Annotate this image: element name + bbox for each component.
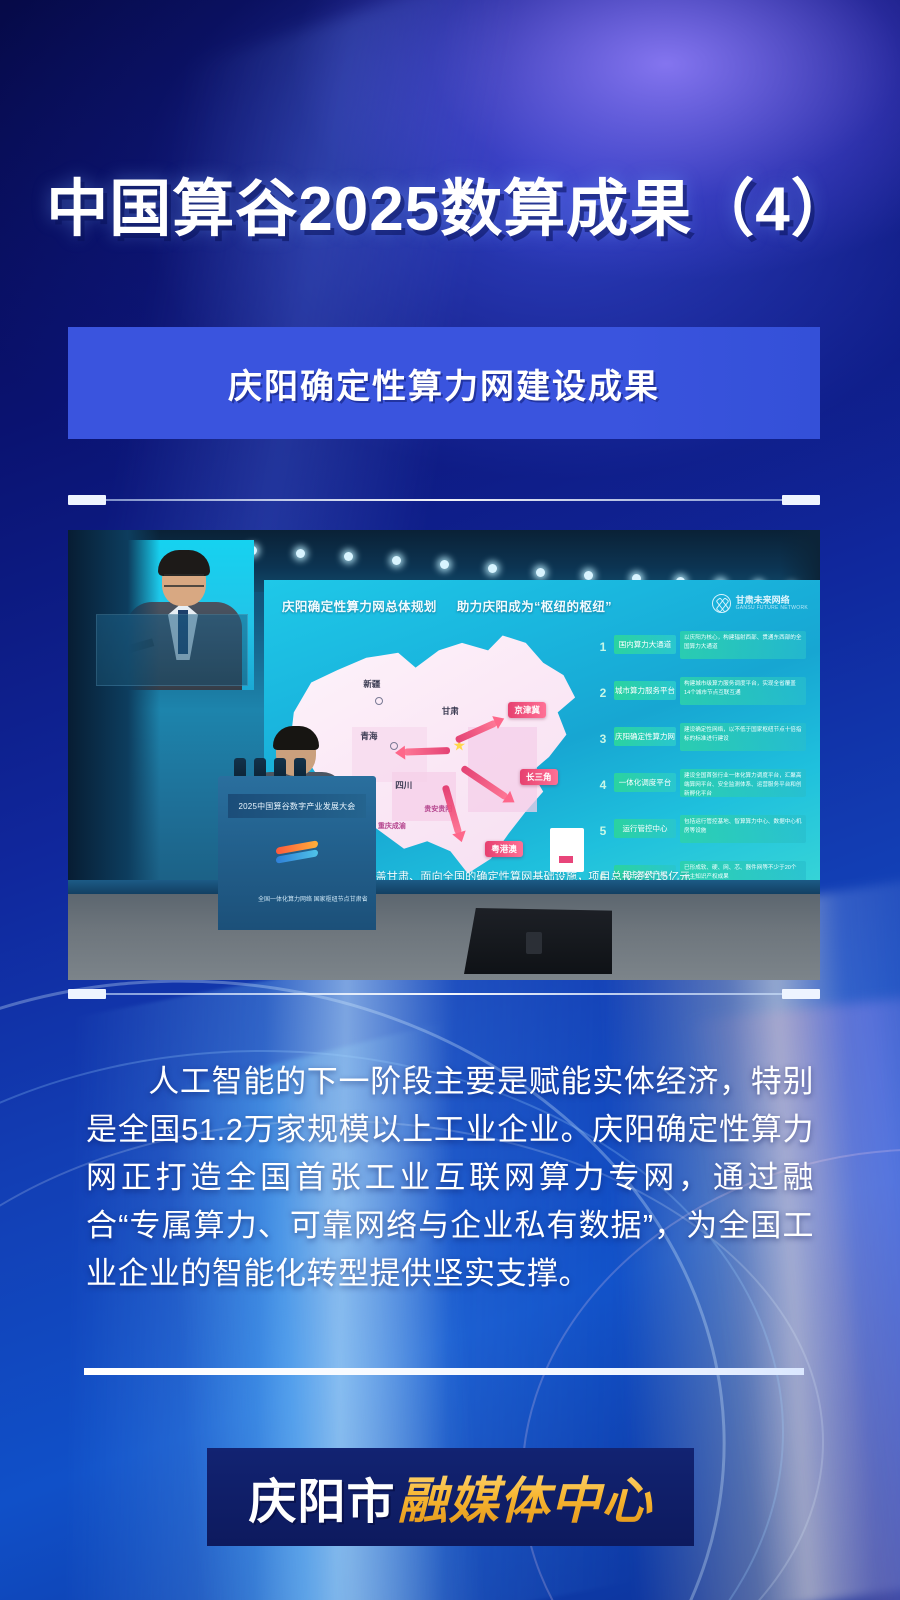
plan-item-desc: 构建城市级算力服务调度平台，实现全省覆盖14个城市节点互联互通 <box>680 677 806 705</box>
plan-item-number: 5 <box>596 816 610 846</box>
poster-canvas: 中国算谷2025数算成果（4） 庆阳确定性算力网建设成果 <box>0 0 900 1600</box>
screen-headline-right: 助力庆阳成为“枢纽的枢纽” <box>457 600 612 614</box>
plan-list-item: 2 城市算力服务平台 构建城市级算力服务调度平台，实现全省覆盖14个城市节点互联… <box>596 674 808 712</box>
map-tag-jingjinji: 京津冀 <box>508 702 546 718</box>
stage-floor <box>68 894 820 980</box>
divider-cap-left <box>68 495 106 505</box>
page-title: 中国算谷2025数算成果（4） <box>0 158 900 248</box>
glasses-icon <box>164 574 204 587</box>
body-paragraph: 人工智能的下一阶段主要是赋能实体经济，特别是全国51.2万家规模以上工业企业。庆… <box>86 1058 814 1298</box>
stage-monitor-speaker <box>464 908 612 974</box>
divider-below-photo <box>68 988 820 1000</box>
divider-line <box>68 993 820 995</box>
footer-city-name: 庆阳市 <box>248 1462 395 1532</box>
plan-list-item: 1 国内算力大通道 以庆阳为核心，构建辐射西部、贯通东西部的全国算力大通道 <box>596 628 808 666</box>
side-display-panel <box>96 614 248 686</box>
plan-item-key: 运行管控中心 <box>614 819 676 838</box>
sponsor-logo-text: 甘肃未来网络 GANSU FUTURE NETWORK <box>736 596 808 611</box>
plan-item-desc: 包括运行管控基地、智算算力中心、数据中心机房等设施 <box>680 815 806 843</box>
screen-plan-list: 1 国内算力大通道 以庆阳为核心，构建辐射西部、贯通东西部的全国算力大通道 2 … <box>596 628 808 900</box>
plan-item-key: 庆阳确定性算力网 <box>614 727 676 746</box>
conference-emblem-icon <box>276 838 318 868</box>
podium-banner-text: 2025中国算谷数字产业发展大会 <box>239 801 356 812</box>
map-label-xinjiang: 新疆 <box>363 678 380 690</box>
plan-item-number: 1 <box>596 632 610 662</box>
network-logo-icon <box>712 594 731 613</box>
map-tag-greaterbay: 粤港澳 <box>485 841 523 857</box>
footer-media-center-name: 融媒体中心 <box>398 1461 653 1533</box>
plan-item-desc: 建设全国首张行业一体化算力调度平台，汇聚高端算网平台、安全监测体系、运营服务平台… <box>680 769 806 797</box>
podium-banner: 2025中国算谷数字产业发展大会 <box>228 794 366 818</box>
plan-list-item: 3 庆阳确定性算力网 建设确定性网络，以不低于国家枢纽节点十倍指标的标准进行建设 <box>596 720 808 758</box>
stage-edge <box>68 880 820 894</box>
divider-cap-right <box>782 495 820 505</box>
plan-item-number: 3 <box>596 724 610 754</box>
plan-item-number: 2 <box>596 678 610 708</box>
sponsor-logo: 甘肃未来网络 GANSU FUTURE NETWORK <box>712 594 808 613</box>
body-paragraph-text: 人工智能的下一阶段主要是赋能实体经济，特别是全国51.2万家规模以上工业企业。庆… <box>86 1064 814 1291</box>
event-photo: 庆阳确定性算力网总体规划 助力庆阳成为“枢纽的枢纽” 甘肃未来网络 GANSU … <box>68 530 820 980</box>
map-label-chengyu: 重庆成渝 <box>378 821 406 831</box>
screen-headline: 庆阳确定性算力网总体规划 助力庆阳成为“枢纽的枢纽” <box>282 596 782 622</box>
plan-item-key: 一体化调度平台 <box>614 773 676 792</box>
divider-above-footer <box>84 1368 804 1375</box>
plan-item-desc: 建设确定性网络，以不低于国家枢纽节点十倍指标的标准进行建设 <box>680 723 806 751</box>
sponsor-name-en: GANSU FUTURE NETWORK <box>736 606 808 612</box>
plan-list-item: 4 一体化调度平台 建设全国首张行业一体化算力调度平台，汇聚高端算网平台、安全监… <box>596 766 808 804</box>
podium: 2025中国算谷数字产业发展大会 全国一体化算力网络 国家枢纽节点甘肃省 <box>218 776 376 930</box>
podium-subtitle: 全国一体化算力网络 国家枢纽节点甘肃省 <box>258 894 338 903</box>
map-taiwan-inset <box>550 828 584 872</box>
divider-line <box>68 499 820 501</box>
speaker-closeup-hair <box>158 550 210 576</box>
screen-headline-left: 庆阳确定性算力网总体规划 <box>282 600 437 614</box>
plan-item-desc: 以庆阳为核心，构建辐射西部、贯通东西部的全国算力大通道 <box>680 631 806 659</box>
plan-item-number: 4 <box>596 770 610 800</box>
plan-list-item: 5 运行管控中心 包括运行管控基地、智算算力中心、数据中心机房等设施 <box>596 812 808 850</box>
subtitle-banner-text: 庆阳确定性算力网建设成果 <box>228 359 660 408</box>
map-label-gansu: 甘肃 <box>442 705 459 717</box>
plan-item-key: 城市算力服务平台 <box>614 681 676 700</box>
footer-logo-bar: 庆阳市 融媒体中心 <box>207 1448 694 1546</box>
divider-cap-right <box>782 989 820 999</box>
map-label-sichuan: 四川 <box>395 779 412 791</box>
speaker-hair <box>273 726 319 750</box>
plan-item-key: 国内算力大通道 <box>614 635 676 654</box>
map-label-qinghai: 青海 <box>361 730 378 742</box>
divider-above-photo <box>68 494 820 506</box>
divider-cap-left <box>68 989 106 999</box>
subtitle-banner: 庆阳确定性算力网建设成果 <box>68 327 820 439</box>
map-tag-yangtze: 长三角 <box>520 769 558 785</box>
